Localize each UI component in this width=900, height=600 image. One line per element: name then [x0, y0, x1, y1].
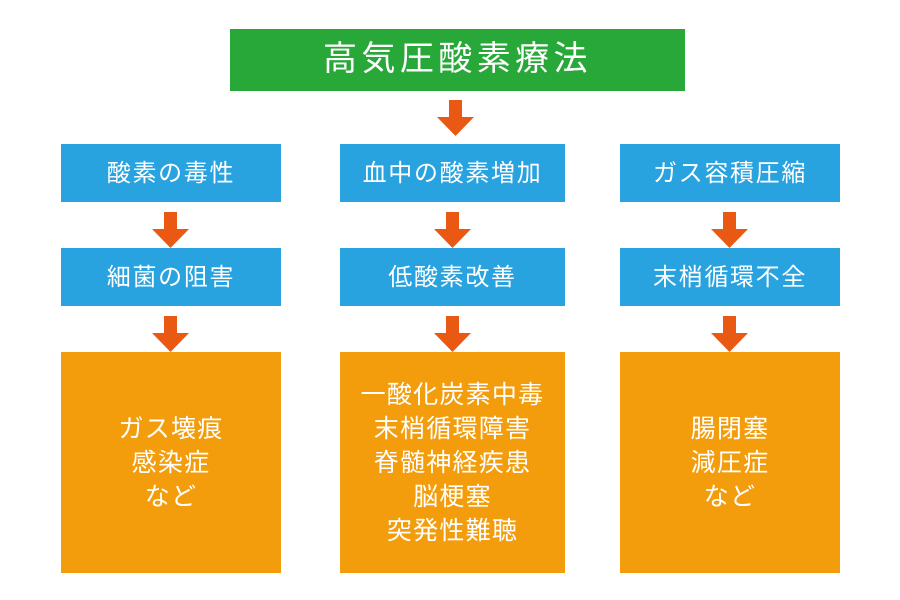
outcome-line: など — [704, 480, 757, 514]
step-box-center-1: 血中の酸素増加 — [340, 144, 565, 202]
step-box-left-1-label: 酸素の毒性 — [107, 158, 235, 189]
step-box-right-1: ガス容積圧縮 — [620, 144, 840, 202]
step-box-center-2: 低酸素改善 — [340, 248, 565, 306]
outcome-box-left: ガス壊痕 感染症 など — [61, 352, 281, 573]
outcome-line: 一酸化炭素中毒 — [361, 378, 545, 412]
arrow-down-icon — [434, 212, 471, 248]
outcome-line: 感染症 — [132, 446, 211, 480]
arrow-down-icon — [711, 316, 748, 352]
outcome-line: 腸閉塞 — [691, 412, 770, 446]
outcome-line: ガス壊痕 — [118, 412, 223, 446]
arrow-down-icon — [434, 316, 471, 352]
step-box-center-1-label: 血中の酸素増加 — [363, 158, 543, 189]
outcome-line: 脳梗塞 — [413, 480, 492, 514]
title-node-label: 高気圧酸素療法 — [323, 38, 592, 82]
step-box-right-2: 末梢循環不全 — [620, 248, 840, 306]
step-box-right-2-label: 末梢循環不全 — [653, 262, 807, 293]
outcome-line: 突発性難聴 — [387, 514, 518, 548]
outcome-box-center: 一酸化炭素中毒 末梢循環障害 脊髄神経疾患 脳梗塞 突発性難聴 — [340, 352, 565, 573]
step-box-left-1: 酸素の毒性 — [61, 144, 281, 202]
arrow-down-icon — [711, 212, 748, 248]
step-box-right-1-label: ガス容積圧縮 — [653, 158, 807, 189]
arrow-down-icon — [152, 316, 189, 352]
title-node: 高気圧酸素療法 — [230, 29, 685, 91]
arrow-down-icon — [437, 100, 474, 136]
step-box-center-2-label: 低酸素改善 — [388, 262, 516, 293]
outcome-box-right: 腸閉塞 減圧症 など — [620, 352, 840, 573]
outcome-line: 末梢循環障害 — [374, 412, 532, 446]
flowchart-diagram: 高気圧酸素療法 酸素の毒性 細菌の阻害 ガス壊痕 感染症 など 血中の酸素増加 — [0, 0, 900, 600]
step-box-left-2: 細菌の阻害 — [61, 248, 281, 306]
outcome-line: 減圧症 — [691, 446, 770, 480]
arrow-down-icon — [152, 212, 189, 248]
outcome-line: 脊髄神経疾患 — [374, 446, 532, 480]
outcome-line: など — [145, 480, 198, 514]
step-box-left-2-label: 細菌の阻害 — [107, 262, 235, 293]
